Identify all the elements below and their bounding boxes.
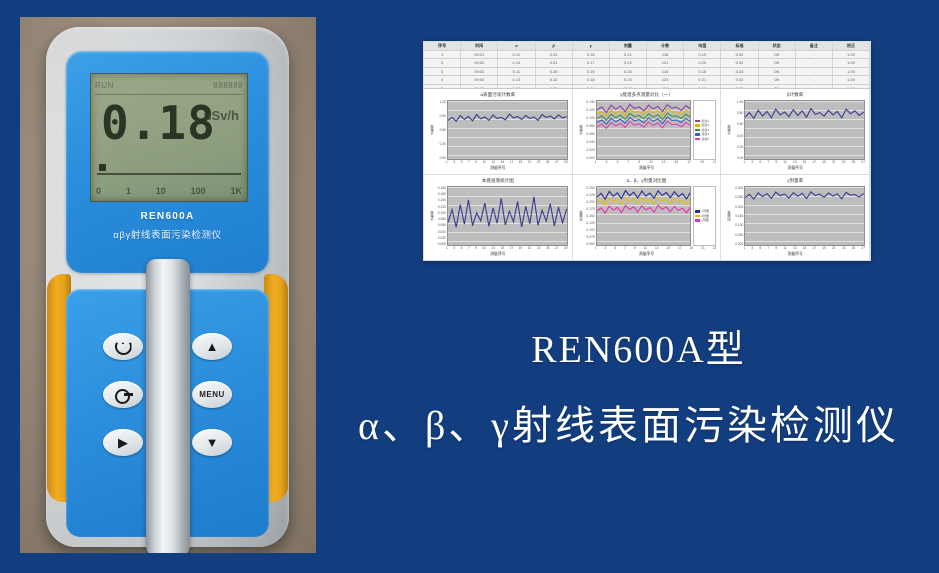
chart-x-axis-label: 测量序号 [577, 166, 717, 172]
chart-y-tick: 0.040 [583, 140, 595, 144]
chart-series-line [448, 197, 567, 228]
spreadsheet-header-cell: 剂量 [610, 42, 647, 50]
spreadsheet-cell: 0.14 [498, 59, 535, 67]
power-button[interactable] [103, 333, 143, 360]
spreadsheet-cell: 3 [424, 68, 461, 76]
chart-y-tick: 0.200 [731, 205, 743, 209]
triangle-down-icon: ▼ [206, 436, 219, 449]
spreadsheet-header-cell: 备注 [796, 42, 833, 50]
device-handle [146, 259, 190, 553]
lcd-scale-tick: 10 [156, 186, 166, 196]
menu-button-label: MENU [199, 390, 225, 399]
chart-y-tick: 0.175 [583, 207, 595, 211]
chart-y-tick: 0.200 [583, 200, 595, 204]
chart-panel: 本底涨落统计图计数率0.1800.1600.1400.1200.1000.080… [424, 175, 573, 261]
spreadsheet-header-row: 序号时间αβγ剂量计数均值标准状态备注校正 [424, 42, 870, 51]
spreadsheet-cell: 0.19 [684, 51, 721, 59]
chart-y-tick: 0.080 [434, 217, 446, 221]
chart-y-tick: 0.30 [434, 142, 446, 146]
spreadsheet-cell: 0.17 [573, 59, 610, 67]
silkscreen-model: REN600A [66, 211, 269, 222]
spreadsheet-cell: 0.18 [573, 51, 610, 59]
lcd-status-right: 888888 [213, 81, 243, 90]
title-block: REN600A型 α、β、γ射线表面污染检测仪 [318, 318, 939, 451]
spreadsheet-cell: 0.31 [536, 59, 573, 67]
chart-title: γ剂量率 [725, 178, 865, 184]
chart-y-ticks: 0.1400.1200.1000.0800.0600.0400.0200.000 [583, 100, 596, 160]
chart-y-tick: 0.075 [583, 235, 595, 239]
spreadsheet-cell: OK [759, 76, 796, 84]
spreadsheet-cell: - [796, 51, 833, 59]
spreadsheet-cell: 121 [647, 59, 684, 67]
lcd-scale-tick: 1K [230, 186, 242, 196]
chart-legend-swatch [695, 120, 700, 123]
chart-legend-swatch [695, 129, 700, 132]
spreadsheet-cell: 0.11 [498, 68, 535, 76]
spreadsheet-cell: 0.13 [498, 76, 535, 84]
chart-y-tick: 0.180 [434, 186, 446, 190]
spreadsheet-table: 序号时间αβγ剂量计数均值标准状态备注校正109:010.120.330.180… [424, 42, 870, 89]
spreadsheet-header-cell: 均值 [684, 42, 721, 50]
chart-y-ticks: 1.200.900.600.300.00 [434, 100, 447, 160]
chart-plot-area [447, 186, 568, 246]
spreadsheet-cell: 0.02 [721, 76, 758, 84]
spreadsheet-header-cell: γ [573, 42, 610, 50]
chart-title: β计数率 [725, 92, 865, 98]
spreadsheet-cell: 124 [647, 76, 684, 84]
chart-plot-area [447, 100, 568, 160]
lcd-scale-tick: 1 [126, 186, 131, 196]
chart-y-ticks: 0.3000.2500.2000.1500.1000.0500.000 [731, 186, 744, 246]
chart-x-axis-label: 测量序号 [428, 252, 568, 258]
spreadsheet-cell: 0.20 [684, 59, 721, 67]
chart-y-tick: 1.00 [731, 100, 743, 104]
spreadsheet-cell: - [796, 59, 833, 67]
spreadsheet-cell: 0.21 [684, 76, 721, 84]
spreadsheet-cell: 09:02 [461, 59, 498, 67]
spreadsheet-row: 109:010.120.330.180.211180.190.02OK-1.00 [424, 51, 870, 60]
chart-y-tick: 0.140 [434, 198, 446, 202]
chart-y-tick: 0.140 [583, 100, 595, 104]
spreadsheet-row: 309:030.110.350.190.201160.180.03OK-1.00 [424, 68, 870, 77]
chart-y-tick: 0.160 [434, 192, 446, 196]
up-button[interactable]: ▲ [192, 333, 232, 360]
spreadsheet-cell: 2 [424, 59, 461, 67]
product-photo: RUN 888888 0.18 uSv/h 0 1 10 100 1K REN6… [20, 17, 316, 553]
spreadsheet-cell: OK [759, 68, 796, 76]
spreadsheet-cell: 0.18 [684, 68, 721, 76]
silkscreen-description: αβγ射线表面污染检测仪 [66, 227, 269, 241]
chart-y-tick: 0.250 [731, 195, 743, 199]
chart-y-tick: 0.060 [583, 132, 595, 136]
lcd-reading-unit: uSv/h [204, 108, 239, 123]
spreadsheet-cell: 1.00 [833, 59, 870, 67]
chart-legend-label: 点位5 [701, 137, 709, 141]
spreadsheet-header-cell: 时间 [461, 42, 498, 50]
menu-button[interactable]: MENU [192, 381, 232, 408]
spreadsheet-cell: 0.35 [536, 68, 573, 76]
chart-y-tick: 0.040 [434, 230, 446, 234]
chart-plot-row: 剂量率0.2500.2250.2000.1750.1500.1250.1000.… [577, 186, 717, 246]
chart-plot-row: 计数率1.000.800.600.400.200.00 [725, 100, 865, 160]
chart-x-axis-label: 测量序号 [577, 252, 717, 258]
product-name-title: α、β、γ射线表面污染检测仪 [318, 393, 939, 451]
chart-legend-swatch [695, 210, 700, 213]
chart-y-tick: 0.225 [583, 193, 595, 197]
chart-legend-swatch [695, 219, 700, 222]
spreadsheet-header-cell: β [536, 42, 573, 50]
spreadsheet-row: 209:020.140.310.170.221210.200.02OK-1.00 [424, 59, 870, 68]
chart-y-tick: 0.250 [583, 186, 595, 190]
chart-y-tick: 0.050 [731, 233, 743, 237]
chart-legend: 点位1点位2点位3点位4点位5 [693, 100, 716, 160]
chart-panel-grid: α表面污染计数率计数率1.200.900.600.300.00135791113… [424, 89, 870, 261]
lcd-bargraph-cursor [99, 164, 106, 171]
chart-legend-label: γ剂量 [701, 218, 709, 222]
chart-panel: γ能谱多点测量对比（一）计数率0.1400.1200.1000.0800.060… [573, 89, 722, 175]
lcd-display: RUN 888888 0.18 uSv/h 0 1 10 100 1K [90, 73, 248, 202]
spreadsheet-cell: 0.23 [610, 76, 647, 84]
spreadsheet-cell: 09:01 [461, 51, 498, 59]
down-button[interactable]: ▼ [192, 429, 232, 456]
chart-y-tick: 0.020 [434, 236, 446, 240]
device-faceplate: RUN 888888 0.18 uSv/h 0 1 10 100 1K REN6… [66, 51, 269, 273]
chart-legend-swatch [695, 133, 700, 136]
chart-legend-swatch [695, 215, 700, 218]
spreadsheet-header-cell: 序号 [424, 42, 461, 50]
spreadsheet-cell: 0.32 [536, 76, 573, 84]
spreadsheet-cell: OK [759, 59, 796, 67]
chart-plot-row: 计数率0.1800.1600.1400.1200.1000.0800.0600.… [428, 186, 568, 246]
play-icon: ▶ [118, 436, 128, 449]
spreadsheet-cell: - [796, 76, 833, 84]
chart-y-tick: 0.60 [731, 122, 743, 126]
lcd-scale: 0 1 10 100 1K [96, 186, 242, 196]
chart-plot-row: 计数率1.200.900.600.300.00 [428, 100, 568, 160]
chart-series-line [745, 192, 864, 199]
spreadsheet-cell: 0.03 [721, 68, 758, 76]
spreadsheet-cell: 116 [647, 68, 684, 76]
spreadsheet-cell: 09:03 [461, 68, 498, 76]
chart-y-tick: 0.300 [731, 186, 743, 190]
chart-plot-area [744, 100, 865, 160]
chart-y-tick: 0.150 [583, 214, 595, 218]
chart-y-tick: 0.80 [731, 111, 743, 115]
chart-title: γ能谱多点测量对比（一） [577, 92, 717, 98]
chart-series-line [448, 114, 567, 121]
chart-y-tick: 0.60 [434, 128, 446, 132]
spreadsheet-row: 409:040.130.320.180.231240.210.02OK-1.00 [424, 76, 870, 85]
lcd-reading-value: 0.18 [101, 100, 216, 146]
spreadsheet-header-cell: 计数 [647, 42, 684, 50]
chart-panel: α、β、γ剂量对比图剂量率0.2500.2250.2000.1750.1500.… [573, 175, 722, 261]
spreadsheet-cell: 0.12 [498, 51, 535, 59]
chart-y-tick: 0.125 [583, 221, 595, 225]
spreadsheet-cell: 0.21 [610, 51, 647, 59]
spreadsheet-cell: 0.19 [573, 68, 610, 76]
chart-plot-area [596, 100, 692, 160]
product-model-title: REN600A型 [318, 318, 939, 373]
chart-y-tick: 0.120 [583, 108, 595, 112]
chart-plot-area [744, 186, 865, 246]
chart-legend-item: γ剂量 [695, 218, 714, 222]
chart-panel: α表面污染计数率计数率1.200.900.600.300.00135791113… [424, 89, 573, 175]
spreadsheet-cell: 1.00 [833, 68, 870, 76]
key-icon [115, 389, 132, 400]
spreadsheet-cell: 4 [424, 76, 461, 84]
chart-x-axis-label: 测量序号 [725, 166, 865, 172]
spreadsheet-cell: 0.20 [610, 68, 647, 76]
chart-series-line [745, 109, 864, 119]
power-icon [115, 338, 132, 355]
chart-y-axis-label: 计数率 [428, 100, 434, 160]
lcd-status-left: RUN [95, 81, 114, 90]
chart-y-tick: 0.100 [731, 223, 743, 227]
spreadsheet-cell: 0.02 [721, 51, 758, 59]
chart-plot-row: 剂量率0.3000.2500.2000.1500.1000.0500.000 [725, 186, 865, 246]
spreadsheet-cell: 09:04 [461, 76, 498, 84]
spreadsheet-cell: 1.00 [833, 76, 870, 84]
lcd-scale-tick: 0 [96, 186, 101, 196]
spreadsheet-cell: 1.00 [833, 51, 870, 59]
chart-series-line [597, 197, 691, 205]
chart-y-tick: 0.40 [731, 134, 743, 138]
chart-y-tick: 0.100 [583, 228, 595, 232]
spreadsheet-cell: OK [759, 51, 796, 59]
lcd-scale-tick: 100 [191, 186, 206, 196]
spreadsheet-cell: 0.22 [610, 59, 647, 67]
chart-y-tick: 0.120 [434, 205, 446, 209]
spreadsheet-cell: 1 [424, 51, 461, 59]
spreadsheet-header-cell: 状态 [759, 42, 796, 50]
spreadsheet-cell: 118 [647, 51, 684, 59]
chart-x-axis-label: 测量序号 [428, 166, 568, 172]
chart-y-ticks: 1.000.800.600.400.200.00 [731, 100, 744, 160]
chart-plot-row: 计数率0.1400.1200.1000.0800.0600.0400.0200.… [577, 100, 717, 160]
triangle-up-icon: ▲ [206, 340, 219, 353]
chart-x-axis-label: 测量序号 [725, 252, 865, 258]
chart-legend-item: 点位5 [695, 137, 714, 141]
play-button[interactable]: ▶ [103, 429, 143, 456]
spreadsheet-header-cell: α [498, 42, 535, 50]
spreadsheet-header-cell: 校正 [833, 42, 870, 50]
chart-y-ticks: 0.2500.2250.2000.1750.1500.1250.1000.075… [583, 186, 596, 246]
chart-series-line [597, 190, 691, 199]
chart-legend-swatch [695, 138, 700, 141]
chart-title: α、β、γ剂量对比图 [577, 178, 717, 184]
spreadsheet-cell: - [796, 68, 833, 76]
chart-legend: α剂量β剂量γ剂量 [693, 186, 716, 246]
chart-y-axis-label: 计数率 [725, 100, 731, 160]
search-button[interactable] [103, 381, 143, 408]
chart-y-axis-label: 计数率 [577, 100, 583, 160]
spreadsheet-cell: 0.02 [721, 59, 758, 67]
chart-y-tick: 0.020 [583, 148, 595, 152]
lcd-bargraph [97, 166, 241, 175]
chart-plot-area [596, 186, 692, 246]
chart-y-tick: 0.080 [583, 124, 595, 128]
chart-y-axis-label: 剂量率 [725, 186, 731, 246]
chart-y-tick: 0.90 [434, 114, 446, 118]
lcd-status-bar: RUN 888888 [95, 77, 243, 95]
chart-y-tick: 0.060 [434, 223, 446, 227]
chart-title: α表面污染计数率 [428, 92, 568, 98]
chart-y-axis-label: 计数率 [428, 186, 434, 246]
spreadsheet-cell: 0.33 [536, 51, 573, 59]
chart-y-axis-label: 剂量率 [577, 186, 583, 246]
spreadsheet-cell: 0.18 [573, 76, 610, 84]
chart-panel: β计数率计数率1.000.800.600.400.200.00135791113… [721, 89, 870, 175]
chart-legend-swatch [695, 124, 700, 127]
spreadsheet-header-cell: 标准 [721, 42, 758, 50]
chart-y-tick: 0.20 [731, 145, 743, 149]
chart-panel: γ剂量率剂量率0.3000.2500.2000.1500.1000.0500.0… [721, 175, 870, 261]
software-screenshot: 序号时间αβγ剂量计数均值标准状态备注校正109:010.120.330.180… [423, 41, 871, 261]
detector-device: RUN 888888 0.18 uSv/h 0 1 10 100 1K REN6… [46, 27, 289, 547]
chart-y-tick: 0.100 [583, 116, 595, 120]
chart-y-tick: 0.100 [434, 211, 446, 215]
chart-y-ticks: 0.1800.1600.1400.1200.1000.0800.0600.040… [434, 186, 447, 246]
chart-title: 本底涨落统计图 [428, 178, 568, 184]
chart-series-line [597, 205, 691, 213]
chart-y-tick: 0.150 [731, 214, 743, 218]
chart-y-tick: 1.20 [434, 100, 446, 104]
